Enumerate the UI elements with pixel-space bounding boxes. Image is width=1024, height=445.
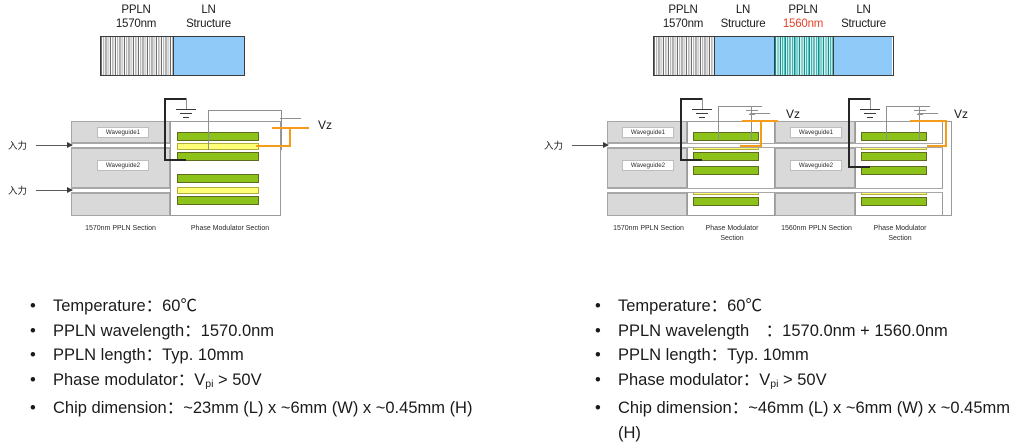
stack-label-line1: LN xyxy=(833,4,894,18)
electrode-ground-4 xyxy=(177,196,259,205)
list-item-text: PPLN wavelength：1570.0nm xyxy=(53,322,274,340)
stack-segment-ppln-1560 xyxy=(774,37,833,75)
stack-label-ppln-1560: PPLN 1560nm xyxy=(773,4,833,31)
section-label-ppln-1560: 1560nm PPLN Section xyxy=(764,224,869,234)
list-item-text: PPLN length：Typ. 10mm xyxy=(618,346,809,364)
stack-label-ppln-1570: PPLN 1570nm xyxy=(100,4,172,31)
stack-segment-ppln-1570 xyxy=(654,37,714,75)
list-item: • Temperature：60℃ xyxy=(587,294,1024,319)
list-item-text: PPLN length：Typ. 10mm xyxy=(53,346,244,364)
bullet-glyph: • xyxy=(30,396,36,421)
electrode-ground-3 xyxy=(177,174,259,183)
waveguide-label-3: Waveguide1 xyxy=(790,127,842,138)
ground-symbol-1 xyxy=(172,109,200,119)
input-arrow-1 xyxy=(36,145,72,146)
electrode-ground-3b xyxy=(861,166,927,175)
waveguide-label-2: Waveguide2 xyxy=(622,160,674,171)
voltage-source-label-2: Vz xyxy=(954,107,968,121)
list-item: • Chip dimension：~23mm (L) x ~6mm (W) x … xyxy=(22,396,492,421)
list-item: • Chip dimension：~46mm (L) x ~6mm (W) x … xyxy=(587,396,1024,445)
stack-label-line2-highlight: 1560nm xyxy=(773,18,833,32)
electrode-ground-4b xyxy=(861,197,927,206)
list-item-text-post: > 50V xyxy=(778,371,826,389)
bullet-glyph: • xyxy=(595,396,601,421)
voltage-source-label: Vz xyxy=(318,118,332,132)
right-device-panel: PPLN 1570nm LN Structure PPLN 1560nm LN … xyxy=(512,0,1024,437)
bullet-glyph: • xyxy=(30,368,36,393)
electrode-ground-2a xyxy=(693,152,759,161)
right-stack-diagram: PPLN 1570nm LN Structure PPLN 1560nm LN … xyxy=(653,4,894,76)
stack-label-line1: PPLN xyxy=(773,4,833,18)
input-label-2: 入力 xyxy=(8,183,27,197)
section-label-modulator: Phase Modulator Section xyxy=(175,224,285,234)
list-item: • PPLN length：Typ. 10mm xyxy=(587,343,1024,368)
electrode-ground-2b xyxy=(861,152,927,161)
stack-segment-ln-structure xyxy=(173,37,245,75)
bullet-glyph: • xyxy=(30,343,36,368)
stack-segment-ln-structure-2 xyxy=(833,37,892,75)
stack-label-line2: 1570nm xyxy=(100,18,172,32)
waveguide-label-2: Waveguide2 xyxy=(97,160,149,171)
ppln-block-bot xyxy=(71,193,170,216)
ground-wire-dark xyxy=(164,98,186,161)
ground-symbol-1 xyxy=(688,109,716,119)
stack-label-line1: PPLN xyxy=(100,4,172,18)
list-item: • Phase modulator：Vpi > 50V xyxy=(22,368,492,397)
left-chip-schematic: Waveguide1 Waveguide2 Vz 入 xyxy=(0,96,345,246)
stack-label-ln-structure-1: LN Structure xyxy=(713,4,773,31)
stack-label-ln-structure-2: LN Structure xyxy=(833,4,894,31)
section-label-ppln: 1570nm PPLN Section xyxy=(68,224,173,234)
bullet-glyph: • xyxy=(595,294,601,319)
stack-segment-ln-structure-1 xyxy=(714,37,774,75)
waveguide-channel-2 xyxy=(607,188,943,193)
list-item: • PPLN wavelength：1570.0nm xyxy=(22,319,492,344)
stack-segment-ppln-1570 xyxy=(101,37,173,75)
waveguide-label-1: Waveguide1 xyxy=(622,127,674,138)
list-item-text-pre: Phase modulator：V xyxy=(618,371,770,389)
input-arrow-1 xyxy=(572,145,608,146)
list-item-text-pre: Phase modulator：V xyxy=(53,371,205,389)
input-label-1: 入力 xyxy=(544,138,563,152)
voltage-source-label-1: Vz xyxy=(786,107,800,121)
waveguide-channel-1 xyxy=(607,143,943,148)
electrode-signal-2 xyxy=(177,187,259,194)
stack-label-line2: Structure xyxy=(713,18,773,32)
source-wire-orange-1 xyxy=(740,120,762,147)
list-item: • Temperature：60℃ xyxy=(22,294,492,319)
input-label-1: 入力 xyxy=(8,138,27,152)
stack-label-line2: Structure xyxy=(172,18,245,32)
electrode-ground-4a xyxy=(693,197,759,206)
stack-label-ppln-1570: PPLN 1570nm xyxy=(653,4,713,31)
list-item-text: Temperature：60℃ xyxy=(53,297,197,315)
bullet-glyph: • xyxy=(30,319,36,344)
stack-label-line2: Structure xyxy=(833,18,894,32)
left-spec-list: • Temperature：60℃ • PPLN wavelength：1570… xyxy=(22,294,492,421)
stack-label-line1: PPLN xyxy=(653,4,713,18)
waveguide-label-4: Waveguide2 xyxy=(790,160,842,171)
right-chip-schematic: Waveguide1 Waveguide2 Waveguide1 Wavegui… xyxy=(512,96,1002,251)
stack-label-ln-structure: LN Structure xyxy=(172,4,245,31)
ground-symbol-3 xyxy=(856,109,884,119)
section-label-modulator-2: Phase Modulator Section xyxy=(855,224,945,243)
list-item: • PPLN length：Typ. 10mm xyxy=(22,343,492,368)
bullet-glyph: • xyxy=(595,368,601,393)
list-item-text: PPLN wavelength ：1570.0nm + 1560.0nm xyxy=(618,322,948,340)
ground-wire-dark-1 xyxy=(680,98,702,161)
bullet-glyph: • xyxy=(595,343,601,368)
electrode-ground-3a xyxy=(693,166,759,175)
list-item-text-post: > 50V xyxy=(213,371,261,389)
source-wire-orange-2 xyxy=(927,120,947,147)
electrode-ground-2 xyxy=(177,152,259,161)
list-item-text: Chip dimension：~46mm (L) x ~6mm (W) x ~0… xyxy=(618,399,1010,442)
bullet-glyph: • xyxy=(30,294,36,319)
stack-label-line1: LN xyxy=(713,4,773,18)
stack-label-line1: LN xyxy=(172,4,245,18)
section-label-ppln-1570: 1570nm PPLN Section xyxy=(596,224,701,234)
stack-label-line2: 1570nm xyxy=(653,18,713,32)
left-device-panel: PPLN 1570nm LN Structure Waveguide1 Wave… xyxy=(0,0,512,437)
list-item-text: Temperature：60℃ xyxy=(618,297,762,315)
list-item: • PPLN wavelength ：1570.0nm + 1560.0nm xyxy=(587,319,1024,344)
right-spec-list: • Temperature：60℃ • PPLN wavelength ：157… xyxy=(587,294,1024,445)
waveguide-label-1: Waveguide1 xyxy=(97,127,149,138)
left-stack-diagram: PPLN 1570nm LN Structure xyxy=(100,4,245,76)
list-item: • Phase modulator：Vpi > 50V xyxy=(587,368,1024,397)
source-wire-orange xyxy=(259,127,291,147)
ppln2-block-bot xyxy=(775,193,855,216)
bullet-glyph: • xyxy=(595,319,601,344)
list-item-text: Chip dimension：~23mm (L) x ~6mm (W) x ~0… xyxy=(53,399,472,417)
source-wire-orange-tail xyxy=(256,145,291,147)
input-arrow-2 xyxy=(36,190,72,191)
ppln1-block-bot xyxy=(607,193,687,216)
